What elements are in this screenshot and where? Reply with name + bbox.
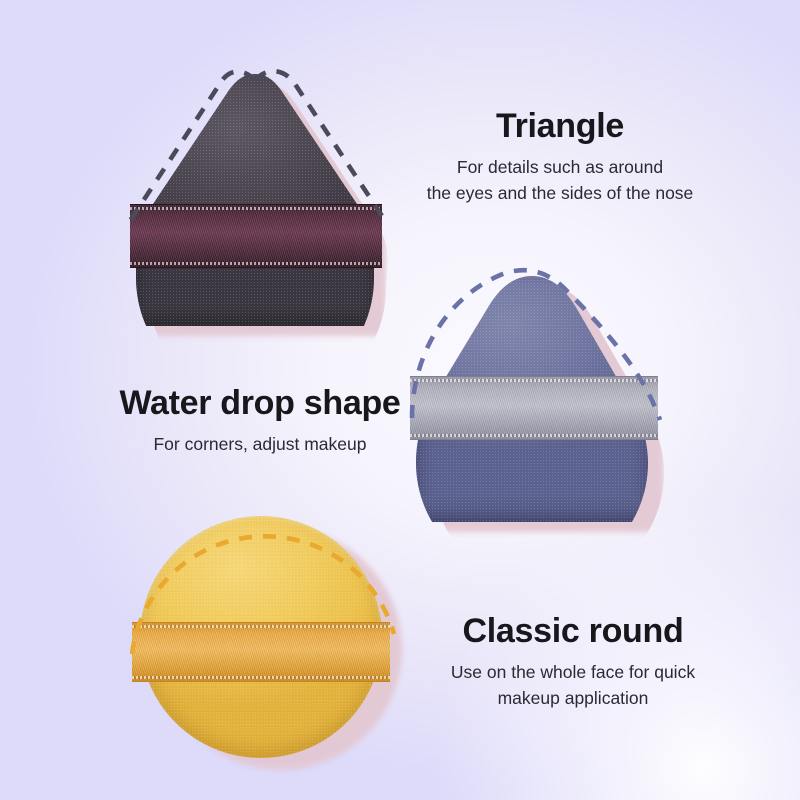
round-ribbon-satin-sheen (132, 623, 390, 681)
triangle-puff-texture (136, 74, 374, 326)
waterdrop-title: Water drop shape (104, 385, 416, 421)
product-triangle-puff[interactable] (118, 62, 408, 362)
triangle-puff-body (136, 74, 374, 326)
waterdrop-ribbon-stitch-bottom (410, 434, 658, 437)
product-water-drop-puff[interactable] (396, 262, 678, 554)
waterdrop-ribbon-satin-sheen (410, 377, 658, 439)
product-classic-round-puff[interactable] (122, 506, 406, 782)
round-description-line2: makeup application (498, 688, 649, 708)
label-block-round: Classic round Use on the whole face for … (408, 613, 738, 712)
round-ribbon-stitch-top (132, 625, 390, 628)
round-description-line1: Use on the whole face for quick (451, 662, 695, 682)
label-block-waterdrop: Water drop shape For corners, adjust mak… (104, 385, 416, 458)
round-title: Classic round (408, 613, 738, 649)
triangle-ribbon-stitch-top (130, 207, 382, 210)
triangle-description-line1: For details such as around (457, 157, 663, 177)
label-block-triangle: Triangle For details such as around the … (404, 108, 716, 207)
waterdrop-description-line1: For corners, adjust makeup (153, 434, 366, 454)
waterdrop-puff-ribbon (410, 376, 658, 440)
round-puff-ribbon (132, 622, 390, 682)
triangle-description-line2: the eyes and the sides of the nose (427, 183, 694, 203)
round-ribbon-stitch-bottom (132, 676, 390, 679)
waterdrop-description: For corners, adjust makeup (104, 432, 416, 458)
round-description: Use on the whole face for quick makeup a… (408, 660, 738, 712)
infographic-canvas: Triangle For details such as around the … (0, 0, 800, 800)
triangle-puff-ribbon (130, 204, 382, 268)
triangle-title: Triangle (404, 108, 716, 144)
waterdrop-ribbon-stitch-top (410, 379, 658, 382)
triangle-ribbon-stitch-bottom (130, 262, 382, 265)
triangle-description: For details such as around the eyes and … (404, 155, 716, 207)
triangle-ribbon-satin-sheen (130, 205, 382, 267)
